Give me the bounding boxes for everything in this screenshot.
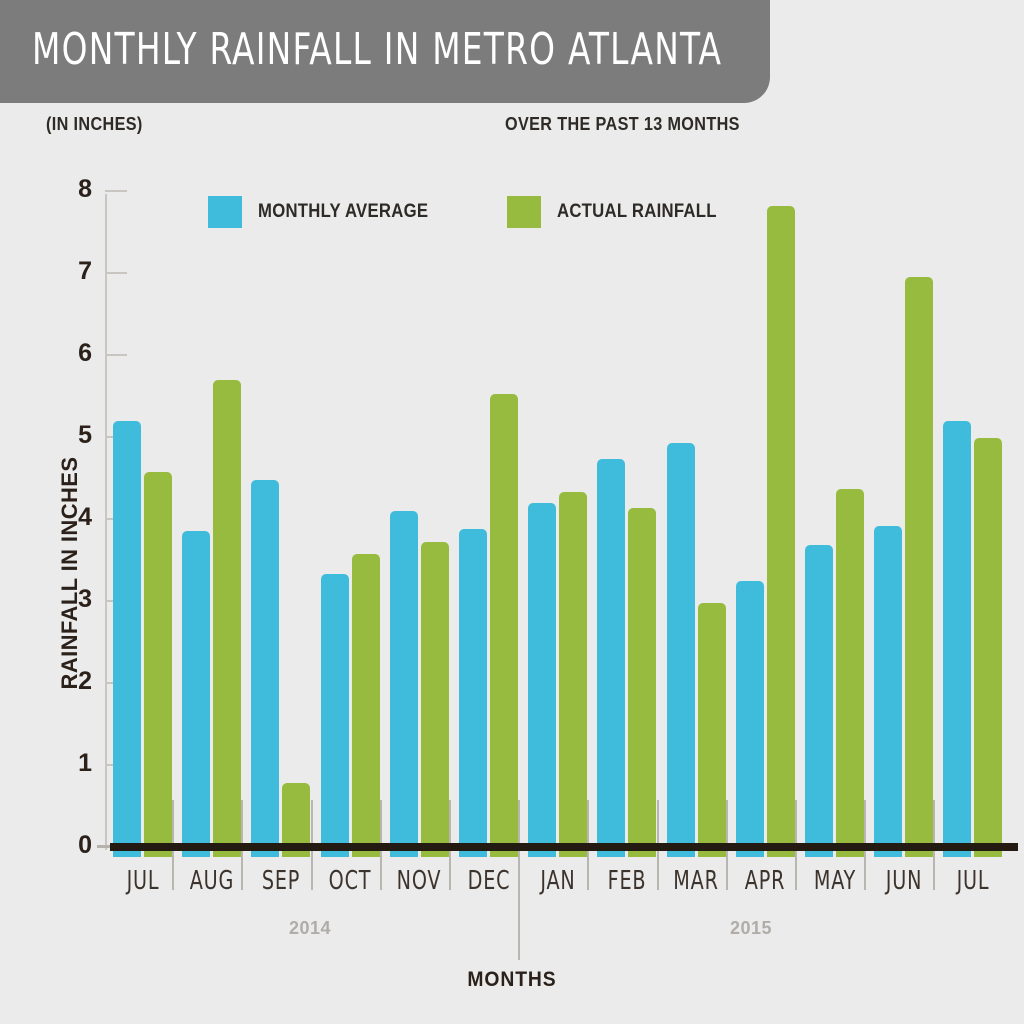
bar-jul-actual[interactable] [144, 472, 172, 857]
bar-mar-average[interactable] [667, 443, 695, 857]
legend-item-actual-rainfall[interactable]: ACTUAL RAINFALL [507, 196, 738, 228]
chart-legend: MONTHLY AVERAGE ACTUAL RAINFALL [208, 196, 739, 228]
bar-feb-average[interactable] [597, 459, 625, 857]
bar-oct-actual[interactable] [352, 554, 380, 857]
legend-item-monthly-average[interactable]: MONTHLY AVERAGE [208, 196, 451, 228]
bar-apr-actual[interactable] [767, 206, 795, 857]
legend-label-monthly-average: MONTHLY AVERAGE [258, 201, 428, 223]
bar-feb-actual[interactable] [628, 508, 656, 857]
legend-label-actual-rainfall: ACTUAL RAINFALL [557, 201, 717, 223]
bar-jun-average[interactable] [874, 526, 902, 857]
bar-nov-average[interactable] [390, 511, 418, 857]
bar-jul-average[interactable] [113, 421, 141, 857]
bar-jul-actual[interactable] [974, 438, 1002, 857]
chart-plot-area: RAINFALL IN INCHES 012345678 JULAUGSEPOC… [0, 0, 1024, 1024]
bar-nov-actual[interactable] [421, 542, 449, 857]
bar-may-average[interactable] [805, 545, 833, 857]
zero-baseline [110, 843, 1018, 851]
bar-jan-average[interactable] [528, 503, 556, 857]
bar-jul-average[interactable] [943, 421, 971, 857]
bar-jan-actual[interactable] [559, 492, 587, 857]
legend-swatch-green-icon [507, 196, 541, 228]
bar-oct-average[interactable] [321, 574, 349, 857]
bar-jun-actual[interactable] [905, 277, 933, 857]
legend-swatch-blue-icon [208, 196, 242, 228]
bar-may-actual[interactable] [836, 489, 864, 857]
bar-apr-average[interactable] [736, 581, 764, 858]
bar-dec-actual[interactable] [490, 394, 518, 857]
baseline-cap [97, 845, 111, 848]
bar-aug-average[interactable] [182, 531, 210, 857]
bar-sep-average[interactable] [251, 480, 279, 857]
bar-aug-actual[interactable] [213, 380, 241, 857]
bars-layer [0, 0, 1024, 1024]
bar-dec-average[interactable] [459, 529, 487, 857]
bar-mar-actual[interactable] [698, 603, 726, 857]
